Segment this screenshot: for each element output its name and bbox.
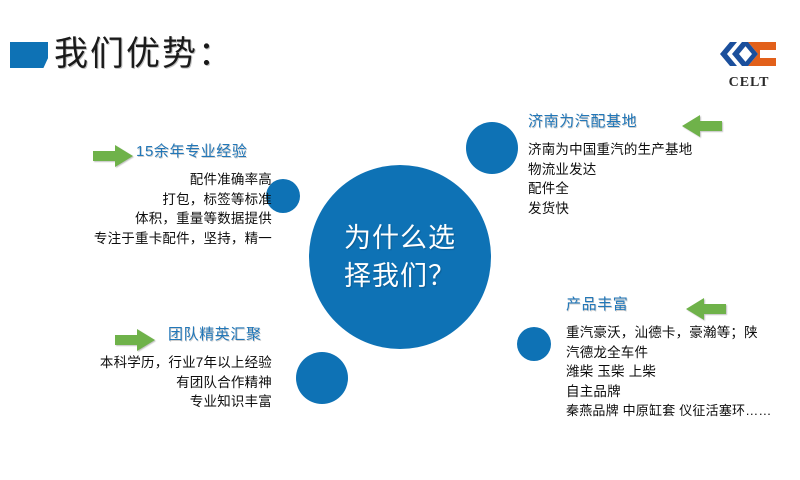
feature-body-line: 体积，重量等数据提供 (0, 209, 272, 229)
feature-body-line: 物流业发达 (528, 160, 794, 180)
feature-block-products: 产品丰富 重汽豪沃，汕德卡，豪瀚等；陕 汽德龙全车件 潍柴 玉柴 上柴 自主品牌… (566, 295, 800, 421)
feature-body-line: 重汽豪沃，汕德卡，豪瀚等；陕 (566, 323, 800, 343)
feature-body-line: 济南为中国重汽的生产基地 (528, 140, 794, 160)
slide-canvas: 我们优势： CELT 为什么选 择我们？ (0, 0, 800, 480)
title-marker-icon (10, 42, 48, 68)
feature-body-line: 配件准确率高 (0, 170, 272, 190)
celt-logo: CELT (712, 34, 786, 90)
feature-block-base: 济南为汽配基地 济南为中国重汽的生产基地 物流业发达 配件全 发货快 (528, 112, 794, 218)
feature-body-line: 专注于重卡配件，坚持，精一 (0, 229, 272, 249)
feature-heading-base: 济南为汽配基地 (528, 112, 794, 132)
node-dot-products (517, 327, 551, 361)
center-label-line-2: 择我们？ (344, 257, 456, 295)
feature-heading-products: 产品丰富 (566, 295, 800, 315)
feature-heading-experience: 15余年专业经验 (0, 142, 272, 162)
celt-logo-mark-icon (712, 34, 786, 74)
center-label-line-1: 为什么选 (344, 219, 456, 257)
feature-body-line: 专业知识丰富 (0, 392, 272, 412)
page-title: 我们优势： (54, 30, 234, 78)
feature-body-line: 配件全 (528, 179, 794, 199)
feature-body-line: 有团队合作精神 (0, 373, 272, 393)
feature-body-line: 秦燕品牌 中原缸套 仪征活塞环…… (566, 401, 800, 421)
feature-body-base: 济南为中国重汽的生产基地 物流业发达 配件全 发货快 (528, 140, 794, 218)
feature-block-experience: 15余年专业经验 配件准确率高 打包，标签等标准 体积，重量等数据提供 专注于重… (0, 142, 272, 248)
feature-body-line: 打包，标签等标准 (0, 190, 272, 210)
feature-body-line: 汽德龙全车件 (566, 343, 800, 363)
node-dot-team (296, 352, 348, 404)
feature-body-products: 重汽豪沃，汕德卡，豪瀚等；陕 汽德龙全车件 潍柴 玉柴 上柴 自主品牌 秦燕品牌… (566, 323, 800, 421)
celt-logo-text: CELT (712, 75, 786, 91)
feature-heading-team: 团队精英汇聚 (0, 325, 272, 345)
center-circle-label: 为什么选 择我们？ (344, 219, 456, 295)
feature-body-experience: 配件准确率高 打包，标签等标准 体积，重量等数据提供 专注于重卡配件，坚持，精一 (0, 170, 272, 248)
node-dot-base (466, 122, 518, 174)
feature-block-team: 团队精英汇聚 本科学历，行业7年以上经验 有团队合作精神 专业知识丰富 (0, 325, 272, 412)
feature-body-line: 发货快 (528, 199, 794, 219)
center-circle: 为什么选 择我们？ (309, 165, 491, 349)
feature-body-line: 自主品牌 (566, 382, 800, 402)
feature-body-line: 本科学历，行业7年以上经验 (0, 353, 272, 373)
feature-body-line: 潍柴 玉柴 上柴 (566, 362, 800, 382)
feature-body-team: 本科学历，行业7年以上经验 有团队合作精神 专业知识丰富 (0, 353, 272, 412)
